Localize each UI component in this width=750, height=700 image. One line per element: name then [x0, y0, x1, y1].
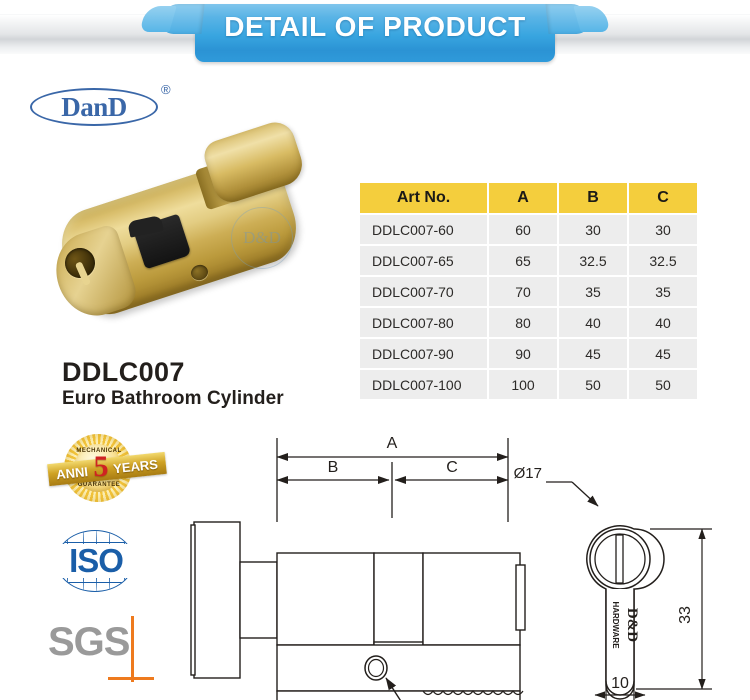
photo-watermark: D&D: [231, 207, 293, 269]
cell-a: 100: [489, 370, 557, 399]
technical-drawing-svg: A B C M5: [0, 410, 750, 700]
cell-art-no: DDLC007-65: [360, 246, 487, 275]
width-dimension-label: 10: [611, 675, 629, 692]
cell-c: 40: [629, 308, 697, 337]
technical-drawing: A B C M5: [0, 410, 750, 700]
cell-b: 30: [559, 215, 627, 244]
cell-c: 45: [629, 339, 697, 368]
table-row: DDLC007-90 90 45 45: [360, 339, 697, 368]
face-brand-line2: HARDWARE: [611, 601, 620, 649]
cell-art-no: DDLC007-60: [360, 215, 487, 244]
cell-c: 32.5: [629, 246, 697, 275]
cell-b: 40: [559, 308, 627, 337]
cell-c: 30: [629, 215, 697, 244]
column-header-a: A: [489, 183, 557, 213]
dimension-label-a: A: [387, 435, 398, 452]
cell-a: 90: [489, 339, 557, 368]
table-row: DDLC007-100 100 50 50: [360, 370, 697, 399]
cell-art-no: DDLC007-80: [360, 308, 487, 337]
table-row: DDLC007-80 80 40 40: [360, 308, 697, 337]
table-row: DDLC007-60 60 30 30: [360, 215, 697, 244]
column-header-b: B: [559, 183, 627, 213]
cell-b: 45: [559, 339, 627, 368]
cell-b: 50: [559, 370, 627, 399]
cell-c: 50: [629, 370, 697, 399]
cell-art-no: DDLC007-90: [360, 339, 487, 368]
column-header-art-no: Art No.: [360, 183, 487, 213]
cell-art-no: DDLC007-100: [360, 370, 487, 399]
column-header-c: C: [629, 183, 697, 213]
dimension-label-c: C: [446, 459, 458, 476]
diameter-label: Ø17: [514, 465, 542, 482]
cell-a: 65: [489, 246, 557, 275]
ribbon-tail-left: [139, 6, 176, 32]
registered-trademark-icon: ®: [161, 82, 171, 97]
cell-art-no: DDLC007-70: [360, 277, 487, 306]
table-row: DDLC007-70 70 35 35: [360, 277, 697, 306]
spec-table: Art No. A B C DDLC007-60 60 30 30 DDLC00…: [358, 181, 699, 401]
cell-a: 80: [489, 308, 557, 337]
cell-b: 35: [559, 277, 627, 306]
table-row: DDLC007-65 65 32.5 32.5: [360, 246, 697, 275]
header-ribbon: DETAIL OF PRODUCT: [195, 4, 555, 62]
cell-c: 35: [629, 277, 697, 306]
cell-a: 70: [489, 277, 557, 306]
product-photo: D&D: [45, 120, 350, 335]
cell-b: 32.5: [559, 246, 627, 275]
product-name: Euro Bathroom Cylinder: [62, 388, 284, 410]
product-code: DDLC007: [62, 358, 284, 386]
side-elevation-view: [191, 522, 525, 700]
product-title-block: DDLC007 Euro Bathroom Cylinder: [62, 358, 284, 410]
face-brand-line1: D&D: [624, 608, 640, 642]
page-header: DETAIL OF PRODUCT: [0, 0, 750, 72]
height-dimension-label: 33: [677, 606, 694, 624]
table-header-row: Art No. A B C: [360, 183, 697, 213]
page-title: DETAIL OF PRODUCT: [195, 4, 555, 50]
ribbon-tail-right: [573, 6, 610, 32]
dimension-label-b: B: [328, 459, 339, 476]
cell-a: 60: [489, 215, 557, 244]
thumbturn-knob-graphic: [200, 117, 307, 206]
